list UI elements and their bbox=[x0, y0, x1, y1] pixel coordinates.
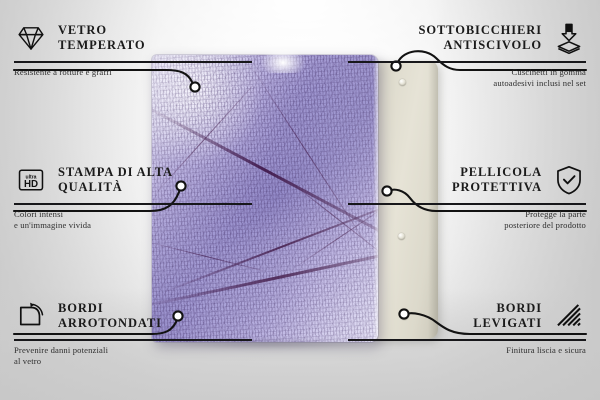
feature-title: BORDI ARROTONDATI bbox=[58, 301, 162, 331]
feature-divider bbox=[348, 339, 586, 341]
coaster-stack-icon bbox=[552, 21, 586, 55]
feature-divider bbox=[348, 203, 586, 205]
rounded-corner-icon bbox=[14, 299, 48, 333]
feature-divider bbox=[14, 339, 252, 341]
shield-check-icon bbox=[552, 163, 586, 197]
diamond-icon bbox=[14, 21, 48, 55]
feature-subtitle: Resistente a rotture e graffi bbox=[14, 67, 252, 78]
feature-subtitle: Finitura liscia e sicura bbox=[348, 345, 586, 356]
feature-title: BORDI LEVIGATI bbox=[473, 301, 542, 331]
diagonal-stripes-icon bbox=[552, 299, 586, 333]
glass-specular-highlight bbox=[260, 47, 306, 73]
feature-title: VETRO TEMPERATO bbox=[58, 23, 146, 53]
feature-callout-protective-film: PELLICOLA PROTETTIVA Protegge la parte p… bbox=[348, 160, 586, 231]
feature-title: PELLICOLA PROTETTIVA bbox=[452, 165, 542, 195]
feature-callout-nonslip-coasters: SOTTOBICCHIERI ANTISCIVOLO Cuscinetti in… bbox=[348, 18, 586, 89]
ultra-hd-icon: ultra HD bbox=[14, 163, 48, 197]
feature-subtitle: Prevenire danni potenziali al vetro bbox=[14, 345, 252, 367]
feature-callout-polished-edges: BORDI LEVIGATI Finitura liscia e sicura bbox=[348, 296, 586, 356]
infographic-canvas: VETRO TEMPERATO Resistente a rotture e g… bbox=[0, 0, 600, 400]
feature-divider bbox=[14, 203, 252, 205]
feature-divider bbox=[348, 61, 586, 63]
feature-subtitle: Colori intensi e un'immagine vivida bbox=[14, 209, 252, 231]
feature-subtitle: Cuscinetti in gomma autoadesivi inclusi … bbox=[348, 67, 586, 89]
feature-callout-rounded-edges: BORDI ARROTONDATI Prevenire danni potenz… bbox=[14, 296, 252, 367]
feature-callout-hd-print: ultra HD STAMPA DI ALTA QUALITÀ Colori i… bbox=[14, 160, 252, 231]
rubber-pad bbox=[398, 233, 405, 240]
ultra-hd-icon-large-label: HD bbox=[24, 179, 38, 190]
feature-subtitle: Protegge la parte posteriore del prodott… bbox=[348, 209, 586, 231]
feature-title: SOTTOBICCHIERI ANTISCIVOLO bbox=[418, 23, 542, 53]
feature-divider bbox=[14, 61, 252, 63]
feature-title: STAMPA DI ALTA QUALITÀ bbox=[58, 165, 173, 195]
feature-callout-tempered-glass: VETRO TEMPERATO Resistente a rotture e g… bbox=[14, 18, 252, 78]
